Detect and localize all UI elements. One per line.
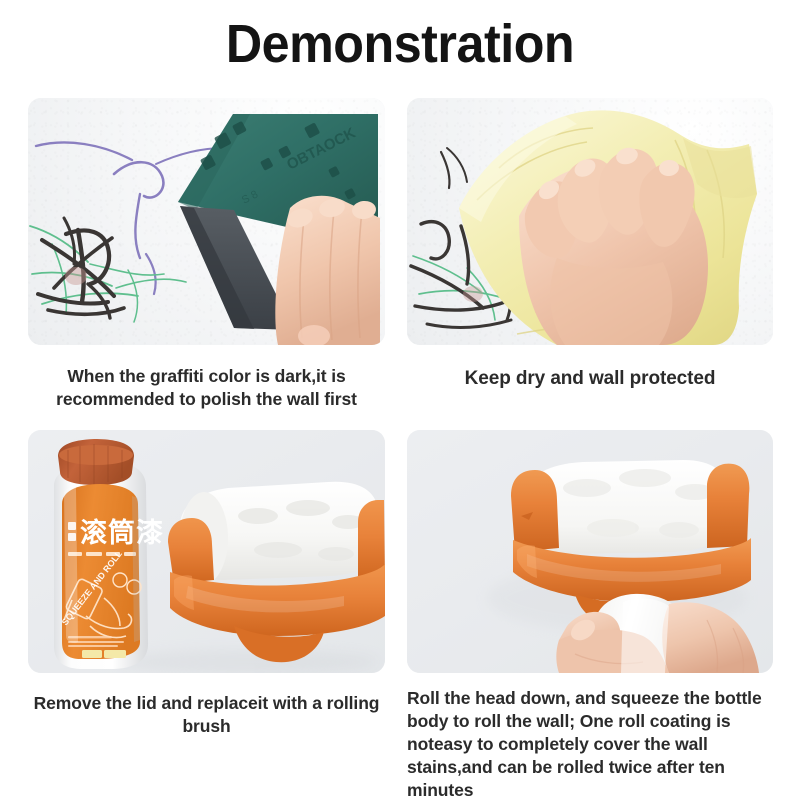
panel-wipe-dry: Keep dry and wall protected <box>407 98 773 390</box>
hand-holding-sponge <box>275 196 380 345</box>
panel-replace-lid-photo: 滚筒漆 <box>28 430 385 673</box>
svg-text:滚筒漆: 滚筒漆 <box>80 517 164 549</box>
paint-bottle: 滚筒漆 <box>54 439 164 669</box>
roller-arm-left <box>511 470 559 552</box>
panel-replace-lid: 滚筒漆 <box>28 430 385 738</box>
rolling-scene-illustration <box>407 430 773 673</box>
infographic-page: Demonstration <box>0 0 800 800</box>
panel-wipe-dry-caption: Keep dry and wall protected <box>407 367 773 390</box>
panel-polish-wall-caption: When the graffiti color is dark,it is re… <box>28 365 385 411</box>
panel-grid: OBTAOCK S 8 <box>0 98 800 388</box>
panel-roll-wall: Roll the head down, and squeeze the bott… <box>407 430 773 802</box>
roller-arm-right <box>707 464 749 548</box>
panel-row-bottom: 滚筒漆 <box>0 430 800 730</box>
roller-brush-head <box>168 482 385 662</box>
panel-polish-wall: OBTAOCK S 8 <box>28 98 385 411</box>
panel-polish-wall-photo: OBTAOCK S 8 <box>28 98 385 345</box>
wipe-scene-illustration <box>407 98 773 345</box>
graffiti-smudge <box>463 286 483 302</box>
palm <box>662 602 759 673</box>
panel-roll-wall-photo <box>407 430 773 673</box>
panel-wipe-dry-photo <box>407 98 773 345</box>
panel-replace-lid-caption: Remove the lid and replaceit with a roll… <box>28 692 385 738</box>
panel-roll-wall-caption: Roll the head down, and squeeze the bott… <box>407 687 773 802</box>
page-title: Demonstration <box>28 12 772 76</box>
graffiti-smudge <box>65 267 87 285</box>
bottle-roller-illustration: 滚筒漆 <box>28 430 385 673</box>
polish-scene-illustration: OBTAOCK S 8 <box>28 98 385 345</box>
label-product-name: 滚筒漆 <box>80 517 164 549</box>
panel-row-top: OBTAOCK S 8 <box>0 98 800 388</box>
